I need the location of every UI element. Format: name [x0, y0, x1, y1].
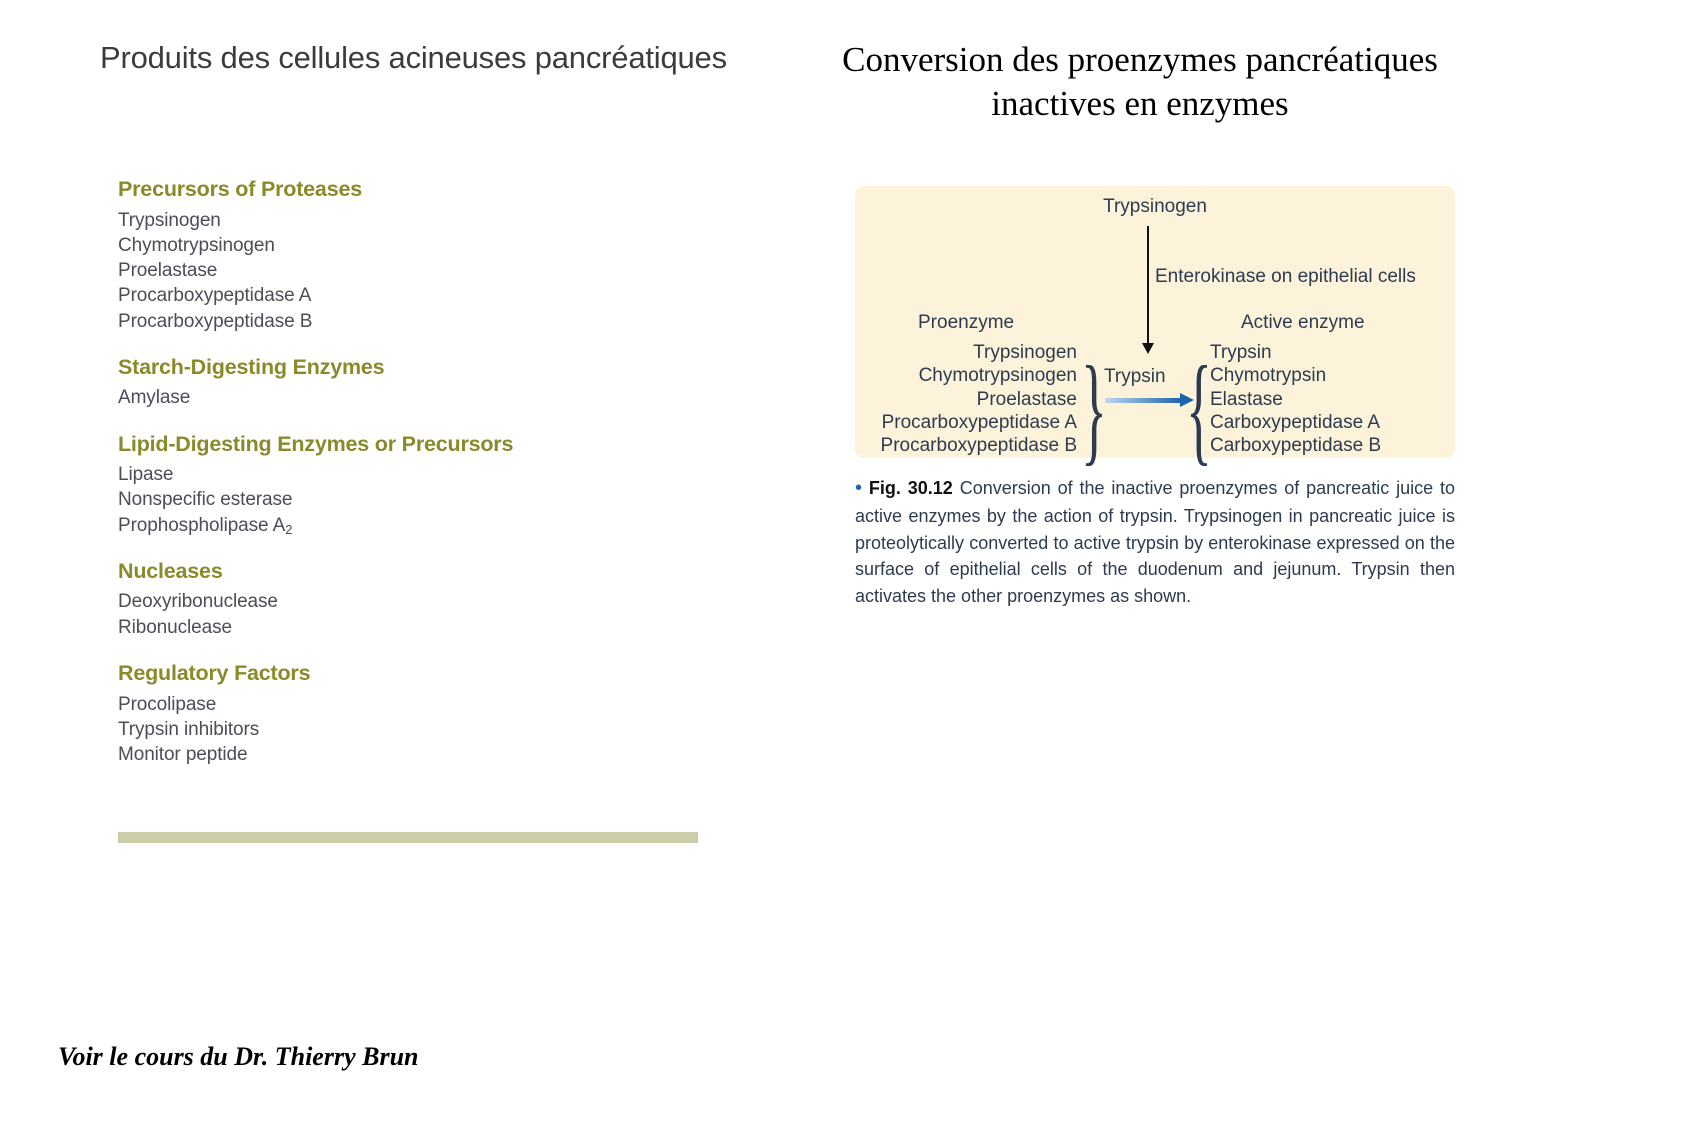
product-item: Deoxyribonuclease	[118, 589, 703, 614]
proenzyme-item: Procarboxypeptidase B	[855, 434, 1077, 457]
active-enzyme-item: Carboxypeptidase B	[1210, 434, 1450, 457]
diagram-top-substrate-label: Trypsinogen	[855, 196, 1455, 218]
product-item-subscripted: Prophospholipase A2	[118, 513, 703, 538]
diagram-column-header-proenzyme: Proenzyme	[918, 312, 1014, 334]
product-group-heading: Precursors of Proteases	[118, 176, 703, 204]
product-group-heading: Regulatory Factors	[118, 660, 703, 688]
horizontal-rule-bar	[118, 832, 698, 843]
caption-bullet-icon: •	[855, 477, 862, 499]
product-group-starch: Starch-Digesting Enzymes Amylase	[118, 354, 703, 411]
diagram-proenzyme-list: Trypsinogen Chymotrypsinogen Proelastase…	[855, 341, 1077, 458]
footer-note: Voir le cours du Dr. Thierry Brun	[58, 1042, 418, 1072]
diagram-activator-label: Enterokinase on epithelial cells	[1155, 266, 1416, 288]
product-item: Monitor peptide	[118, 742, 703, 767]
diagram-active-enzyme-list: Trypsin Chymotrypsin Elastase Carboxypep…	[1210, 341, 1450, 458]
product-group-nucleases: Nucleases Deoxyribonuclease Ribonuclease	[118, 558, 703, 640]
right-arrow-icon	[1105, 398, 1181, 403]
diagram-center-enzyme-label: Trypsin	[1104, 366, 1166, 388]
active-enzyme-item: Chymotrypsin	[1210, 364, 1450, 387]
figure-caption: • Fig. 30.12 Conversion of the inactive …	[855, 474, 1455, 609]
diagram-column-header-active-enzyme: Active enzyme	[1241, 312, 1365, 334]
product-group-lipid: Lipid-Digesting Enzymes or Precursors Li…	[118, 431, 703, 538]
product-group-regulatory: Regulatory Factors Procolipase Trypsin i…	[118, 660, 703, 767]
product-item: Chymotrypsinogen	[118, 233, 703, 258]
proenzyme-item: Trypsinogen	[855, 341, 1077, 364]
figure-diagram-box: Trypsinogen Enterokinase on epithelial c…	[855, 186, 1455, 458]
page-title-right-line1: Conversion des proenzymes pancréatiques	[842, 40, 1438, 79]
page-title-right: Conversion des proenzymes pancréatiques …	[795, 38, 1485, 126]
product-group-proteases: Precursors of Proteases Trypsinogen Chym…	[118, 176, 703, 334]
page-title-left: Produits des cellules acineuses pancréat…	[100, 40, 790, 76]
curly-brace-right-icon: {	[1186, 348, 1212, 470]
active-enzyme-item: Elastase	[1210, 388, 1450, 411]
product-item: Lipase	[118, 462, 703, 487]
caption-figure-number: Fig. 30.12	[869, 478, 953, 498]
proenzyme-item: Chymotrypsinogen	[855, 364, 1077, 387]
active-enzyme-item: Trypsin	[1210, 341, 1450, 364]
page-title-right-line2: inactives en enzymes	[795, 82, 1485, 126]
product-item: Proelastase	[118, 258, 703, 283]
product-group-heading: Starch-Digesting Enzymes	[118, 354, 703, 382]
proenzyme-item: Proelastase	[855, 388, 1077, 411]
product-item: Trypsin inhibitors	[118, 717, 703, 742]
pancreatic-products-list: Precursors of Proteases Trypsinogen Chym…	[118, 176, 703, 767]
product-item: Procarboxypeptidase B	[118, 309, 703, 334]
product-item: Amylase	[118, 385, 703, 410]
product-item: Trypsinogen	[118, 208, 703, 233]
product-item: Nonspecific esterase	[118, 487, 703, 512]
proenzyme-item: Procarboxypeptidase A	[855, 411, 1077, 434]
product-item-base: Prophospholipase A2	[118, 515, 292, 536]
product-item: Procarboxypeptidase A	[118, 283, 703, 308]
down-arrow-icon	[1147, 226, 1149, 344]
active-enzyme-item: Carboxypeptidase A	[1210, 411, 1450, 434]
product-item: Procolipase	[118, 692, 703, 717]
product-group-heading: Nucleases	[118, 558, 703, 586]
product-item: Ribonuclease	[118, 615, 703, 640]
product-group-heading: Lipid-Digesting Enzymes or Precursors	[118, 431, 703, 459]
figure-30-12: Trypsinogen Enterokinase on epithelial c…	[855, 186, 1455, 609]
